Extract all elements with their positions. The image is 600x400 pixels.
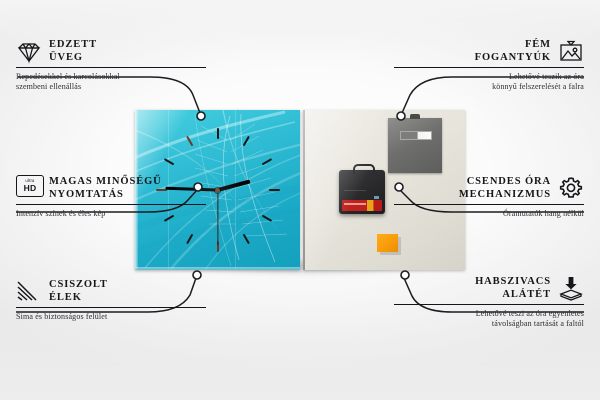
diamond-icon bbox=[16, 38, 42, 64]
desc-line: Intenzív színek és éles kép bbox=[16, 209, 206, 220]
polished-edge-icon bbox=[16, 278, 42, 304]
title-line: ÜVEG bbox=[49, 51, 97, 64]
ultra-hd-icon: ultra HD bbox=[16, 175, 42, 201]
metal-hanger bbox=[388, 118, 442, 173]
title-line: CSISZOLT bbox=[49, 278, 108, 291]
callout-header: EDZETT ÜVEG bbox=[16, 38, 206, 64]
desc-line: távolságban tartását a faltól bbox=[394, 319, 584, 330]
callout-title: MAGAS MINŐSÉGŰ NYOMTATÁS bbox=[49, 175, 162, 201]
hanger-tab bbox=[410, 114, 420, 119]
mechanism-seam bbox=[344, 190, 366, 191]
callout-tempered-glass[interactable]: EDZETT ÜVEG Repedésekkel és karcolásokka… bbox=[16, 38, 206, 93]
desc-line: Repedésekkel és karcolásokkal bbox=[16, 72, 206, 83]
callout-description: Óramutatók hang nélkül bbox=[394, 209, 584, 220]
callout-header: CSISZOLT ÉLEK bbox=[16, 278, 206, 304]
callout-title: CSENDES ÓRA MECHANIZMUS bbox=[459, 175, 551, 201]
picture-hanger-icon bbox=[558, 38, 584, 64]
title-line: HABSZIVACS bbox=[475, 275, 551, 288]
callout-rule bbox=[394, 304, 584, 305]
callout-title: EDZETT ÜVEG bbox=[49, 38, 97, 64]
callout-title: FÉM FOGANTYÚK bbox=[475, 38, 551, 64]
callout-polished-edges[interactable]: CSISZOLT ÉLEK Sima és biztonságos felüle… bbox=[16, 278, 206, 322]
callout-description: Intenzív színek és éles kép bbox=[16, 209, 206, 220]
mechanism-label bbox=[342, 200, 382, 211]
callout-rule bbox=[394, 204, 584, 205]
foam-pad bbox=[377, 234, 398, 252]
gear-icon bbox=[558, 175, 584, 201]
foam-pad-icon bbox=[558, 275, 584, 301]
callout-title: HABSZIVACS ALÁTÉT bbox=[475, 275, 551, 301]
clock-second-hand bbox=[217, 190, 218, 245]
callout-header: CSENDES ÓRA MECHANIZMUS bbox=[394, 175, 584, 201]
callout-metal-handles[interactable]: FÉM FOGANTYÚK Lehetővé teszik az óra kön… bbox=[394, 38, 584, 93]
mechanism-indicator bbox=[374, 196, 379, 199]
infographic-canvas: EDZETT ÜVEG Repedésekkel és karcolásokka… bbox=[0, 0, 600, 400]
desc-line: Lehetővé teszi az óra egyenletes bbox=[394, 309, 584, 320]
desc-line: Óramutatók hang nélkül bbox=[394, 209, 584, 220]
callout-header: FÉM FOGANTYÚK bbox=[394, 38, 584, 64]
clock-mechanism bbox=[339, 170, 385, 214]
title-line: MECHANIZMUS bbox=[459, 188, 551, 201]
desc-line: Lehetővé teszik az óra bbox=[394, 72, 584, 83]
title-line: FOGANTYÚK bbox=[475, 51, 551, 64]
title-line: ÉLEK bbox=[49, 291, 108, 304]
title-line: CSENDES ÓRA bbox=[459, 175, 551, 188]
back-panel-edge bbox=[303, 110, 305, 270]
callout-rule bbox=[16, 204, 206, 205]
callout-title: CSISZOLT ÉLEK bbox=[49, 278, 108, 304]
callout-rule bbox=[16, 307, 206, 308]
desc-line: szembeni ellenállás bbox=[16, 82, 206, 93]
desc-line: Sima és biztonságos felület bbox=[16, 312, 206, 323]
callout-description: Lehetővé teszik az óra könnyű felszerelé… bbox=[394, 72, 584, 93]
callout-rule bbox=[394, 67, 584, 68]
callout-description: Repedésekkel és karcolásokkal szembeni e… bbox=[16, 72, 206, 93]
mechanism-handle bbox=[353, 164, 375, 174]
title-line: EDZETT bbox=[49, 38, 97, 51]
callout-rule bbox=[16, 67, 206, 68]
title-line: FÉM bbox=[475, 38, 551, 51]
clock-tick bbox=[217, 128, 219, 190]
ultra-hd-large-text: HD bbox=[24, 184, 37, 193]
callout-header: HABSZIVACS ALÁTÉT bbox=[394, 275, 584, 301]
hanger-slot bbox=[400, 131, 432, 140]
callout-description: Sima és biztonságos felület bbox=[16, 312, 206, 323]
title-line: ALÁTÉT bbox=[475, 288, 551, 301]
callout-description: Lehetővé teszi az óra egyenletes távolsá… bbox=[394, 309, 584, 330]
callout-silent-mechanism[interactable]: CSENDES ÓRA MECHANIZMUS Óramutatók hang … bbox=[394, 175, 584, 219]
title-line: MAGAS MINŐSÉGŰ bbox=[49, 175, 162, 188]
callout-foam-pad[interactable]: HABSZIVACS ALÁTÉT Lehetővé teszi az óra … bbox=[394, 275, 584, 330]
clock-center-hub bbox=[215, 188, 220, 193]
desc-line: könnyű felszerelését a falra bbox=[394, 82, 584, 93]
title-line: NYOMTATÁS bbox=[49, 188, 162, 201]
callout-header: ultra HD MAGAS MINŐSÉGŰ NYOMTATÁS bbox=[16, 175, 206, 201]
callout-high-quality-print[interactable]: ultra HD MAGAS MINŐSÉGŰ NYOMTATÁS Intenz… bbox=[16, 175, 206, 219]
